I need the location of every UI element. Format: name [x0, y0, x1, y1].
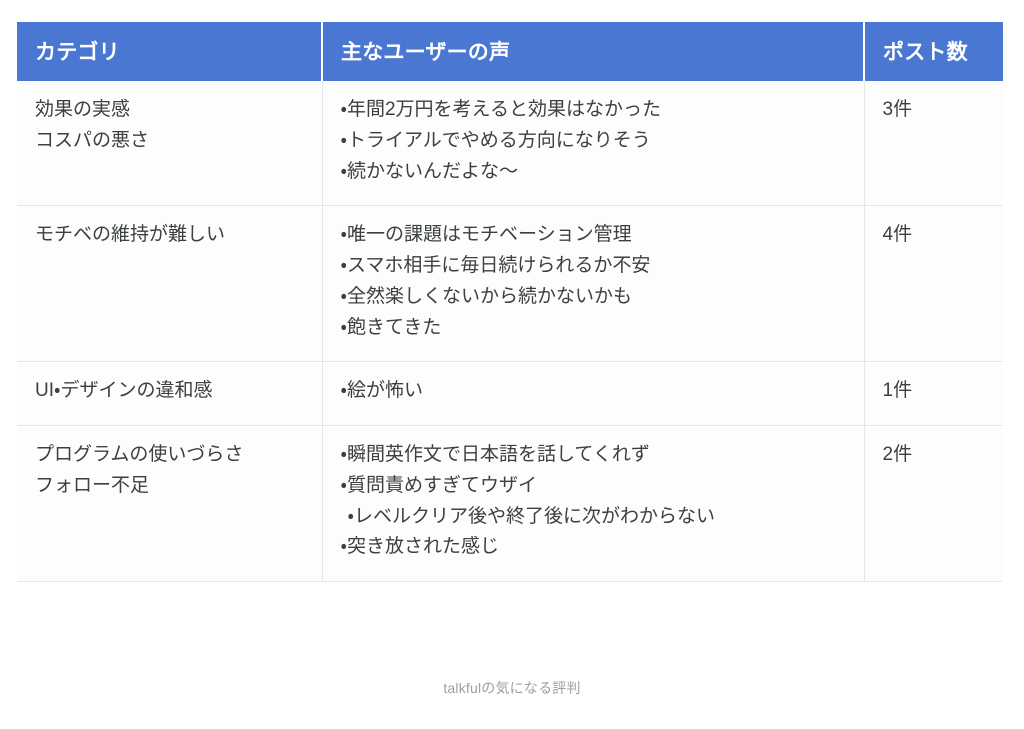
- cell-category: UI・デザインの違和感: [17, 362, 322, 426]
- category-line: コスパの悪さ: [35, 126, 304, 157]
- category-line: 効果の実感: [35, 95, 304, 126]
- cell-category: モチベの維持が難しい: [17, 206, 322, 362]
- cell-user-voices: ・年間2万円を考えると効果はなかった・トライアルでやめる方向になりそう・続かない…: [322, 81, 864, 206]
- table-body: 効果の実感コスパの悪さ・年間2万円を考えると効果はなかった・トライアルでやめる方…: [17, 81, 1003, 582]
- table-row: UI・デザインの違和感・絵が怖い1件: [17, 362, 1003, 426]
- column-header-category: カテゴリ: [17, 22, 322, 81]
- category-line: プログラムの使いづらさ: [35, 440, 304, 471]
- column-header-count: ポスト数: [864, 22, 1003, 81]
- cell-post-count: 1件: [864, 362, 1003, 426]
- table-row: 効果の実感コスパの悪さ・年間2万円を考えると効果はなかった・トライアルでやめる方…: [17, 81, 1003, 206]
- cell-post-count: 2件: [864, 426, 1003, 582]
- table-header-row: カテゴリ 主なユーザーの声 ポスト数: [17, 22, 1003, 81]
- user-voice-line: ・瞬間英作文で日本語を話してくれず: [341, 440, 846, 471]
- user-voice-line: ・トライアルでやめる方向になりそう: [341, 126, 846, 157]
- cell-post-count: 3件: [864, 81, 1003, 206]
- figure-caption: talkfulの気になる評判: [0, 678, 1024, 698]
- table-row: プログラムの使いづらさフォロー不足・瞬間英作文で日本語を話してくれず・質問責めす…: [17, 426, 1003, 582]
- user-voice-line: ・唯一の課題はモチベーション管理: [341, 220, 846, 251]
- user-voice-line: ・質問責めすぎてウザイ: [341, 471, 846, 502]
- table-row: モチベの維持が難しい・唯一の課題はモチベーション管理・スマホ相手に毎日続けられる…: [17, 206, 1003, 362]
- table-header: カテゴリ 主なユーザーの声 ポスト数: [17, 22, 1003, 81]
- user-voice-line: ・飽きてきた: [341, 313, 846, 344]
- cell-category: 効果の実感コスパの悪さ: [17, 81, 322, 206]
- cell-user-voices: ・唯一の課題はモチベーション管理・スマホ相手に毎日続けられるか不安・全然楽しくな…: [322, 206, 864, 362]
- user-voice-line: ・年間2万円を考えると効果はなかった: [341, 95, 846, 126]
- category-line: UI・デザインの違和感: [35, 376, 304, 407]
- cell-user-voices: ・絵が怖い: [322, 362, 864, 426]
- cell-user-voices: ・瞬間英作文で日本語を話してくれず・質問責めすぎてウザイ・レベルクリア後や終了後…: [322, 426, 864, 582]
- user-voice-table: カテゴリ 主なユーザーの声 ポスト数 効果の実感コスパの悪さ・年間2万円を考える…: [17, 22, 1003, 582]
- cell-category: プログラムの使いづらさフォロー不足: [17, 426, 322, 582]
- category-line: モチベの維持が難しい: [35, 220, 304, 251]
- page-root: カテゴリ 主なユーザーの声 ポスト数 効果の実感コスパの悪さ・年間2万円を考える…: [0, 0, 1024, 729]
- column-header-voices: 主なユーザーの声: [322, 22, 864, 81]
- user-voice-line: ・続かないんだよな〜: [341, 157, 846, 188]
- user-voice-line: ・レベルクリア後や終了後に次がわからない: [341, 502, 846, 533]
- category-line: フォロー不足: [35, 471, 304, 502]
- user-voice-line: ・突き放された感じ: [341, 532, 846, 563]
- cell-post-count: 4件: [864, 206, 1003, 362]
- user-voice-line: ・全然楽しくないから続かないかも: [341, 282, 846, 313]
- review-table-container: カテゴリ 主なユーザーの声 ポスト数 効果の実感コスパの悪さ・年間2万円を考える…: [17, 22, 1003, 582]
- user-voice-line: ・絵が怖い: [341, 376, 846, 407]
- user-voice-line: ・スマホ相手に毎日続けられるか不安: [341, 251, 846, 282]
